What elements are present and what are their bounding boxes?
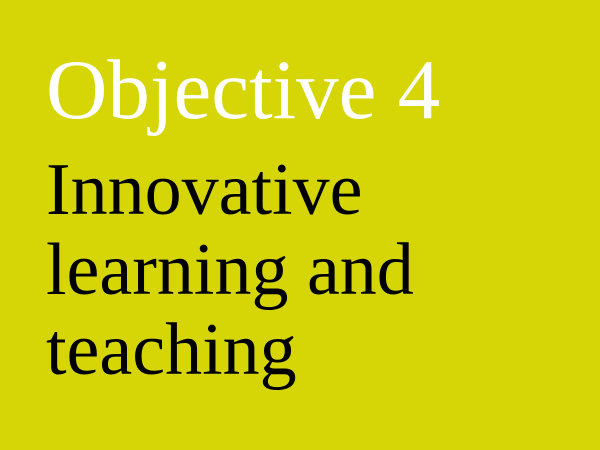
slide-subtitle-line-2: learning and — [46, 230, 546, 310]
slide-text-block: Objective 4 Innovative learning and teac… — [46, 48, 546, 390]
slide-title: Objective 4 — [46, 48, 546, 133]
slide-subtitle-line-1: Innovative — [46, 150, 546, 230]
slide-subtitle-line-3: teaching — [46, 310, 546, 390]
slide-canvas: Objective 4 Innovative learning and teac… — [0, 0, 600, 450]
